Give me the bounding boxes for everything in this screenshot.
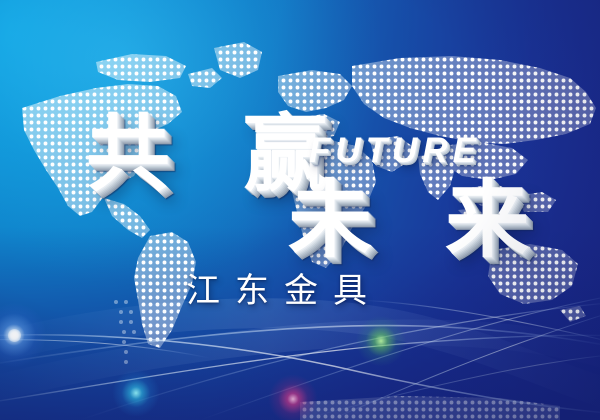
- company-name: 江东金具: [186, 274, 382, 308]
- headline-english: FUTURE: [309, 133, 481, 168]
- headline-line-2: 未 来: [288, 178, 551, 262]
- poster-banner: 共 赢 FUTURE 未 来 江东金具: [0, 0, 600, 420]
- headline-group: 共 赢 FUTURE 未 来 江东金具: [0, 0, 600, 420]
